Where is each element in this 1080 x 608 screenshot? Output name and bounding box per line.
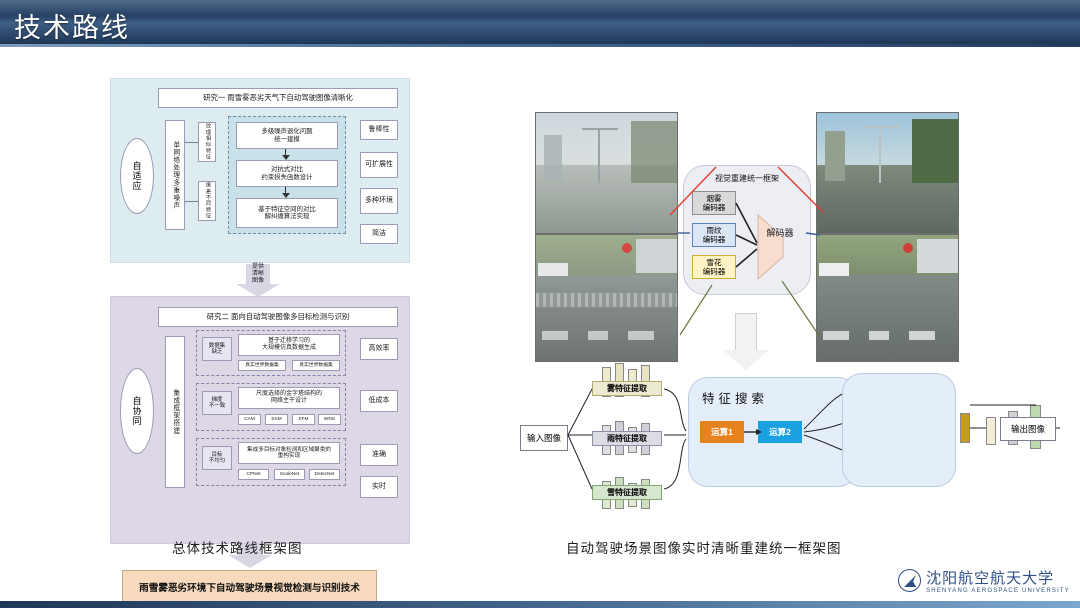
logo-emblem-icon bbox=[898, 569, 921, 592]
left-diagram: 研究一 雨雪雾恶劣天气下自动驾驶图像清晰化 自适应 单网络处理多重噪声 纹理相似… bbox=[110, 78, 410, 548]
university-logo: 沈阳航空航天大学 SHENYANG AEROSPACE UNIVERSITY bbox=[898, 567, 1070, 594]
study2-tag-1: 低成本 bbox=[360, 390, 398, 412]
study2-row-1-item-3: WNS bbox=[318, 414, 341, 425]
university-name-en: SHENYANG AEROSPACE UNIVERSITY bbox=[926, 588, 1070, 594]
study1-main-label: 单网络处理多重噪声 bbox=[171, 141, 179, 209]
study1-main-box: 单网络处理多重噪声 bbox=[165, 120, 185, 230]
title-accent-line bbox=[0, 44, 1080, 47]
study2-tag-2: 准确 bbox=[360, 444, 398, 466]
study1-step-1: 对抗式对比 约束损失函数设计 bbox=[236, 160, 338, 187]
study2-main-box: 集成框架搭建 bbox=[165, 336, 185, 488]
study2-tag-3: 实时 bbox=[360, 476, 398, 498]
study2-row-2-issue: 目标 不均匀 bbox=[202, 446, 232, 470]
study2-row-2-item-0: CPNet bbox=[238, 469, 269, 480]
study2-row-1-title: 尺度选择的金字塔结构的 网络主干设计 bbox=[238, 387, 340, 409]
page-title: 技术路线 bbox=[14, 6, 130, 45]
connector-line bbox=[185, 142, 198, 143]
study1-stage-label: 自适应 bbox=[131, 161, 144, 191]
right-diagram-caption: 自动驾驶场景图像实时清晰重建统一框架图 bbox=[566, 537, 842, 557]
connector-label: 提供 清晰 图像 bbox=[241, 264, 275, 286]
study1-header: 研究一 雨雪雾恶劣天气下自动驾驶图像清晰化 bbox=[158, 88, 398, 108]
study2-row-0-item-1: 真实世界数据集 bbox=[292, 360, 340, 371]
study1-branch-1-label: 振差不同特征 bbox=[204, 182, 210, 219]
study2-row-2-item-1: ScaleNet bbox=[274, 469, 305, 480]
study1-branch-1: 振差不同特征 bbox=[198, 181, 216, 221]
study2-row-0-item-0: 真实世界数据集 bbox=[238, 360, 286, 371]
study1-stage-ellipse: 自适应 bbox=[120, 138, 154, 214]
study2-tag-0: 高效率 bbox=[360, 338, 398, 360]
study1-tag-1: 可扩展性 bbox=[360, 152, 398, 178]
right-diagram: 视觉重建统一框架 烟雾 编码器 雨纹 编码器 雪花 编码器 解码器 输入图像 雾… bbox=[520, 95, 1060, 525]
study2-stage-label: 自协同 bbox=[131, 396, 144, 426]
study2-row-1-item-2: SFM bbox=[292, 414, 315, 425]
footer-bar bbox=[0, 601, 1080, 608]
study2-row-1-issue: 梯度 不一致 bbox=[202, 391, 232, 415]
study1-tag-3: 简洁 bbox=[360, 224, 398, 244]
study1-branch-0: 纹理相似特征 bbox=[198, 122, 216, 162]
study2-row-1-item-1: SSM bbox=[265, 414, 288, 425]
step-arrow-head bbox=[282, 193, 290, 198]
study2-row-1-item-0: CAM bbox=[238, 414, 261, 425]
study1-branch-0-label: 纹理相似特征 bbox=[204, 123, 210, 160]
left-diagram-caption: 总体技术路线框架图 bbox=[172, 537, 303, 557]
step-arrow-head bbox=[282, 155, 290, 160]
study2-row-2-title: 集成多目标对象检测和区域聚类的 重构实现 bbox=[238, 442, 340, 464]
study2-stage-ellipse: 自协同 bbox=[120, 368, 154, 454]
network-output: 输出图像 bbox=[1000, 417, 1056, 441]
university-name-cn: 沈阳航空航天大学 bbox=[926, 567, 1070, 588]
study2-header: 研究二 面向自动驾驶图像多目标检测与识别 bbox=[158, 307, 398, 327]
flow-arrow-shaft bbox=[735, 313, 757, 351]
study1-tag-2: 多种环境 bbox=[360, 188, 398, 214]
study2-row-0-title: 基于迁移学习的 大规模仿真数据生成 bbox=[238, 334, 340, 356]
operation-link bbox=[688, 377, 858, 487]
study2-row-2-item-2: DetecNet bbox=[309, 469, 340, 480]
study1-step-2: 基于特征空间的对比 解纠缠算法实现 bbox=[236, 198, 338, 228]
study1-step-0: 多级噪声退化问题 统一建模 bbox=[236, 122, 338, 149]
fusion-panel bbox=[842, 373, 956, 487]
study1-tag-0: 鲁棒性 bbox=[360, 120, 398, 140]
flow-arrow-head bbox=[723, 350, 769, 370]
study2-row-0-issue: 数据集 缺乏 bbox=[202, 337, 232, 361]
extractor-links bbox=[560, 357, 690, 507]
study2-main-label: 集成框架搭建 bbox=[171, 389, 179, 435]
connector-line bbox=[185, 201, 198, 202]
slide-title-bar bbox=[0, 0, 1080, 46]
photo-framework-guides bbox=[520, 95, 1060, 395]
